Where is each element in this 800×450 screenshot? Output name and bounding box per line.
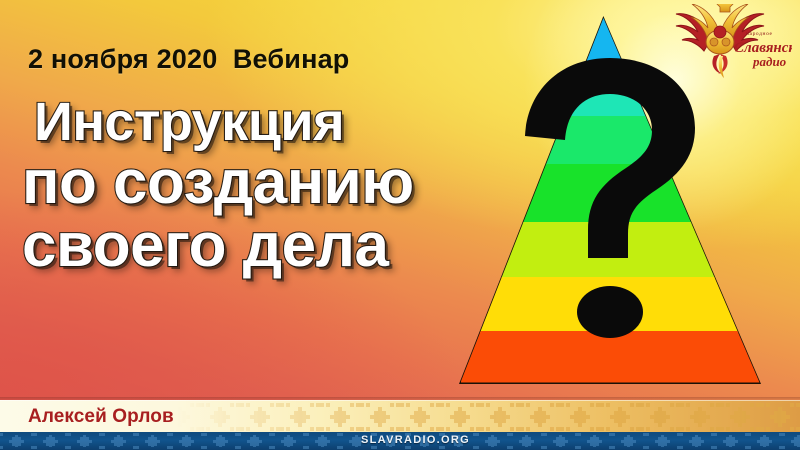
band-4-green	[461, 164, 760, 224]
band-2-turquoise	[461, 76, 760, 118]
author-name: Алексей Орлов	[28, 406, 174, 428]
band-5-yellow-green	[461, 222, 760, 278]
headline-line-1: Инструкция	[34, 96, 492, 149]
band-3-spring-green	[461, 116, 760, 165]
band-6-yellow	[461, 277, 760, 333]
slavyanskoe-radio-logo[interactable]: народное Славянское радио	[670, 4, 792, 80]
webinar-date-line: 2 ноября 2020 Вебинар	[28, 44, 350, 75]
headline-line-3: своего дела	[22, 216, 492, 277]
band-7-orange-red	[461, 331, 760, 383]
page-title: Инструкция по созданию своего дела	[22, 96, 492, 276]
headline-line-2: по созданию	[22, 153, 492, 214]
poster-canvas: народное Славянское радио 2 ноября 2020 …	[0, 0, 800, 450]
site-url: SLAVRADIO.ORG	[361, 434, 470, 446]
svg-text:радио: радио	[752, 54, 787, 69]
svg-text:народное: народное	[746, 31, 773, 37]
